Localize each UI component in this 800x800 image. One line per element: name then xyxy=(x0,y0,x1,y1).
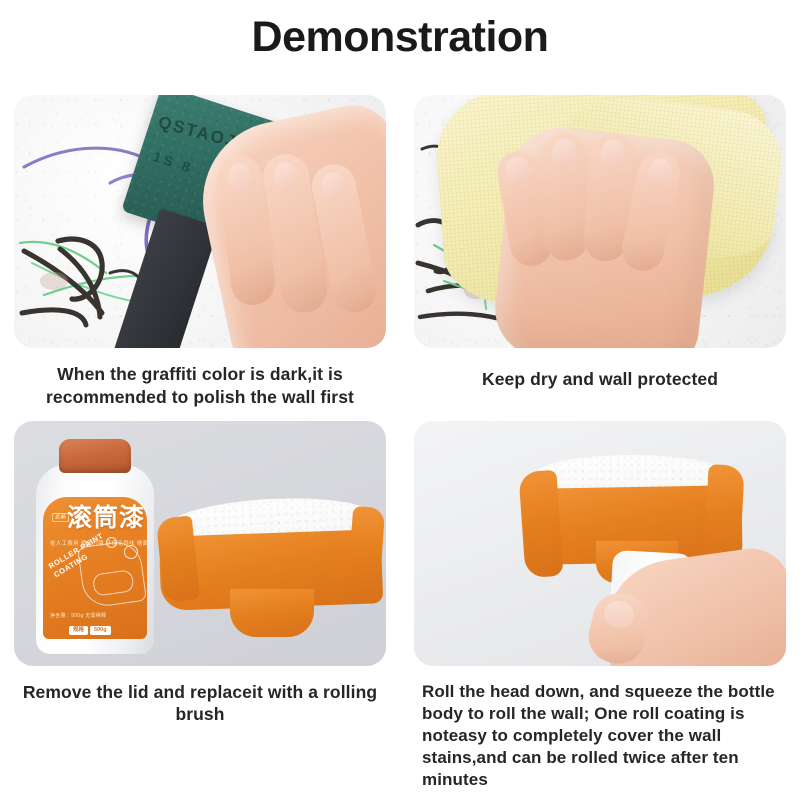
roller-stem xyxy=(230,589,314,637)
thumbnail xyxy=(602,597,637,629)
photo-bottle-and-roller: 正品 滚筒漆 省人工费用 遮盖力强 环保无异味 墙面免刷涂 ROLLER PAI… xyxy=(14,421,386,666)
label-circle-mark-1 xyxy=(106,537,117,548)
paint-bottle: 正品 滚筒漆 省人工费用 遮盖力强 环保无异味 墙面免刷涂 ROLLER PAI… xyxy=(36,439,154,654)
label-footer-text: 净含量：500g 无需稀释 xyxy=(50,612,106,619)
step-caption-1: When the graffiti color is dark,it is re… xyxy=(14,348,386,409)
page-title: Demonstration xyxy=(0,0,800,61)
steps-row-top: QSTAOJC 1S 8 xyxy=(0,95,800,409)
label-spec-pill: 规格 500g xyxy=(69,626,111,635)
label-spec-key: 规格 xyxy=(69,626,88,635)
step-card-2: Keep dry and wall protected xyxy=(400,95,800,409)
hand xyxy=(491,123,719,348)
demonstration-page: Demonstration xyxy=(0,0,800,800)
label-spec-value: 500g xyxy=(90,626,111,635)
step-caption-3: Remove the lid and replaceit with a roll… xyxy=(14,666,386,727)
fingernail xyxy=(552,138,576,165)
step-caption-2: Keep dry and wall protected xyxy=(414,348,786,391)
label-circle-mark-2 xyxy=(124,545,138,559)
fingernail xyxy=(646,157,674,187)
step-card-4: Roll the head down, and squeeze the bott… xyxy=(400,421,800,791)
finger-middle xyxy=(542,132,588,261)
roller-end-cap-left xyxy=(518,469,563,577)
fingernail xyxy=(272,160,300,192)
photo-rolling-wall xyxy=(414,421,786,666)
step-card-1: QSTAOJC 1S 8 xyxy=(0,95,400,409)
photo-sanding-wall: QSTAOJC 1S 8 xyxy=(14,95,386,348)
fingernail xyxy=(226,162,253,193)
bottle-label: 正品 滚筒漆 省人工费用 遮盖力强 环保无异味 墙面免刷涂 ROLLER PAI… xyxy=(43,497,147,639)
roller-end-cap-right xyxy=(347,505,385,599)
steps-grid: QSTAOJC 1S 8 xyxy=(0,95,800,791)
fingernail xyxy=(600,138,626,167)
step-card-3: 正品 滚筒漆 省人工费用 遮盖力强 环保无异味 墙面免刷涂 ROLLER PAI… xyxy=(0,421,400,791)
fingernail xyxy=(320,170,348,201)
bottle-cap xyxy=(59,439,131,473)
steps-row-bottom: 正品 滚筒漆 省人工费用 遮盖力强 环保无异味 墙面免刷涂 ROLLER PAI… xyxy=(0,421,800,791)
step-caption-4: Roll the head down, and squeeze the bott… xyxy=(414,666,786,791)
photo-wiping-cloth xyxy=(414,95,786,348)
fingernail xyxy=(504,155,532,185)
